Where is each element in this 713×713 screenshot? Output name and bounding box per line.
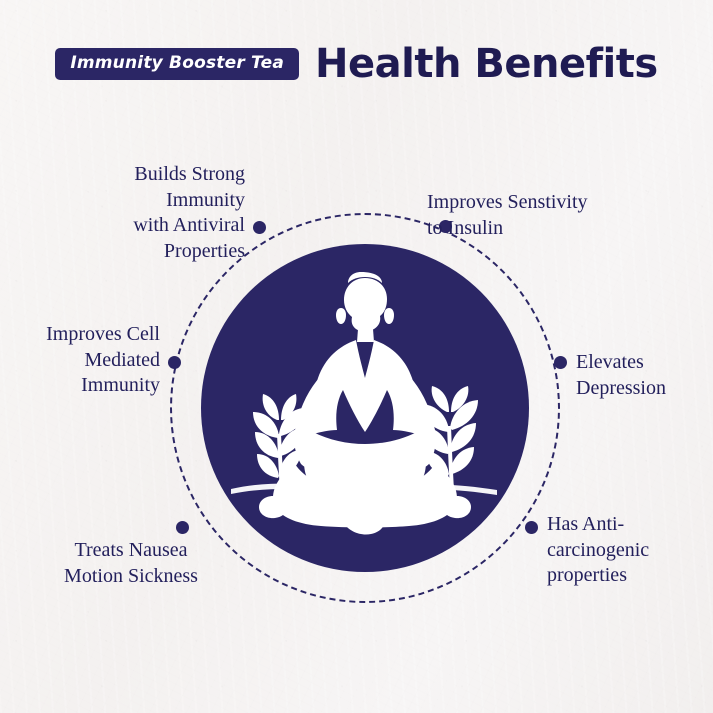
dot-has-anti-carcinogenic-properties (525, 521, 538, 534)
benefits-diagram: Builds Strong Immunity with Antiviral Pr… (0, 0, 713, 713)
benefit-label-builds-strong-immunity: Builds Strong Immunity with Antiviral Pr… (60, 162, 245, 264)
dot-elevates-depression (554, 356, 567, 369)
dot-builds-strong-immunity (253, 221, 266, 234)
dot-treats-nausea-motion-sickness (176, 521, 189, 534)
benefit-label-has-anti-carcinogenic-properties: Has Anti- carcinogenic properties (547, 512, 697, 589)
benefit-label-improves-cell-mediated-immunity: Improves Cell Mediated Immunity (8, 322, 160, 399)
benefit-label-elevates-depression: Elevates Depression (576, 350, 706, 401)
benefit-label-improves-sensitivity-to-insulin: Improves Senstivity to Insulin (427, 190, 647, 241)
poster-canvas: Immunity Booster Tea Health Benefits (0, 0, 713, 713)
benefit-label-treats-nausea-motion-sickness: Treats Nausea Motion Sickness (36, 538, 226, 589)
center-illustration (201, 244, 529, 572)
dot-improves-cell-mediated-immunity (168, 356, 181, 369)
